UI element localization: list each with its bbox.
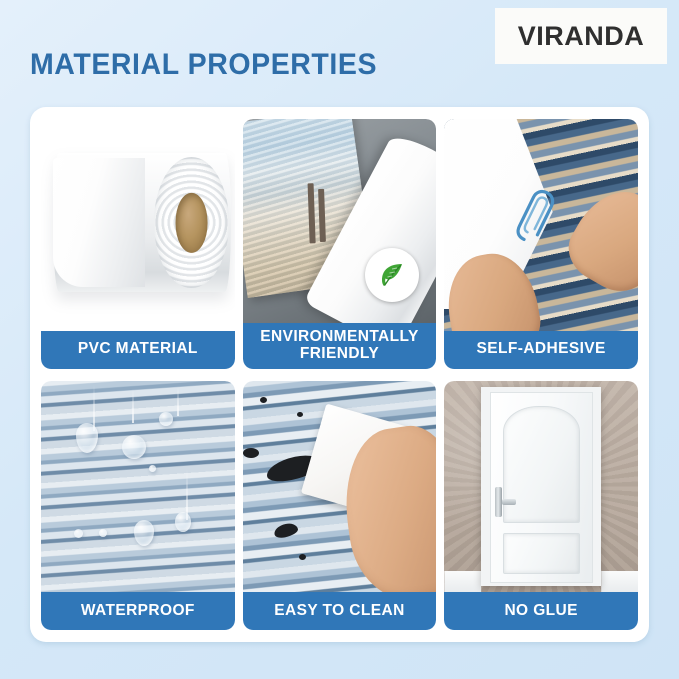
feature-label-environmentally-friendly: ENVIRONMENTALLY FRIENDLY [243,323,437,369]
brand-name: VIRANDA [518,21,645,52]
feature-label-no-glue: NO GLUE [444,592,638,630]
feature-tile-self-adhesive[interactable]: SELF-ADHESIVE [444,119,638,369]
ink-spot [297,412,303,417]
pvc-sheet [53,158,146,286]
feature-label-pvc-material: PVC MATERIAL [41,331,235,369]
page-title: MATERIAL PROPERTIES [30,48,377,82]
water-droplet [134,520,154,546]
waterproof-image [41,381,235,593]
pier-post [318,189,326,242]
feature-label-self-adhesive: SELF-ADHESIVE [444,331,638,369]
easy-to-clean-image [243,381,437,593]
feature-tile-pvc-material[interactable]: PVC MATERIAL [41,119,235,369]
pvc-roll-image [41,119,235,331]
no-glue-door-image [444,381,638,593]
door-panel [490,392,593,583]
feature-tile-easy-to-clean[interactable]: EASY TO CLEAN [243,381,437,631]
brand-logo-box: VIRANDA [495,8,667,64]
water-droplet [99,529,107,537]
ink-spot [299,554,306,560]
eco-wallpaper-image [243,119,437,323]
drop-trail [93,385,95,432]
feature-label-easy-to-clean: EASY TO CLEAN [243,592,437,630]
water-droplet [74,529,83,538]
drop-trail [177,387,179,417]
ink-spot [260,397,267,403]
feature-card: PVC MATERIAL ENV [30,107,649,642]
ink-spot [243,448,259,458]
feature-grid: PVC MATERIAL ENV [41,119,638,630]
pvc-roll-body [53,153,231,293]
feature-tile-environmentally-friendly[interactable]: ENVIRONMENTALLY FRIENDLY [243,119,437,369]
feature-tile-no-glue[interactable]: NO GLUE [444,381,638,631]
feature-tile-waterproof[interactable]: WATERPROOF [41,381,235,631]
door-frame [481,387,601,586]
self-adhesive-image [444,119,638,331]
door-handle [495,487,502,517]
feature-label-waterproof: WATERPROOF [41,592,235,630]
pier-post [307,183,315,243]
door-inset-upper [503,406,580,523]
water-droplet [149,465,156,472]
drop-trail [132,389,134,423]
pvc-cardboard-core [175,192,208,252]
water-droplet [76,423,98,453]
pvc-roll-end [154,157,229,288]
water-droplet [159,412,173,426]
water-droplet [175,512,191,532]
door-inset-lower [503,533,580,575]
leaf-icon [365,248,419,302]
water-droplet [122,435,146,459]
ink-smear [273,522,299,540]
page-header: MATERIAL PROPERTIES VIRANDA [0,0,679,107]
